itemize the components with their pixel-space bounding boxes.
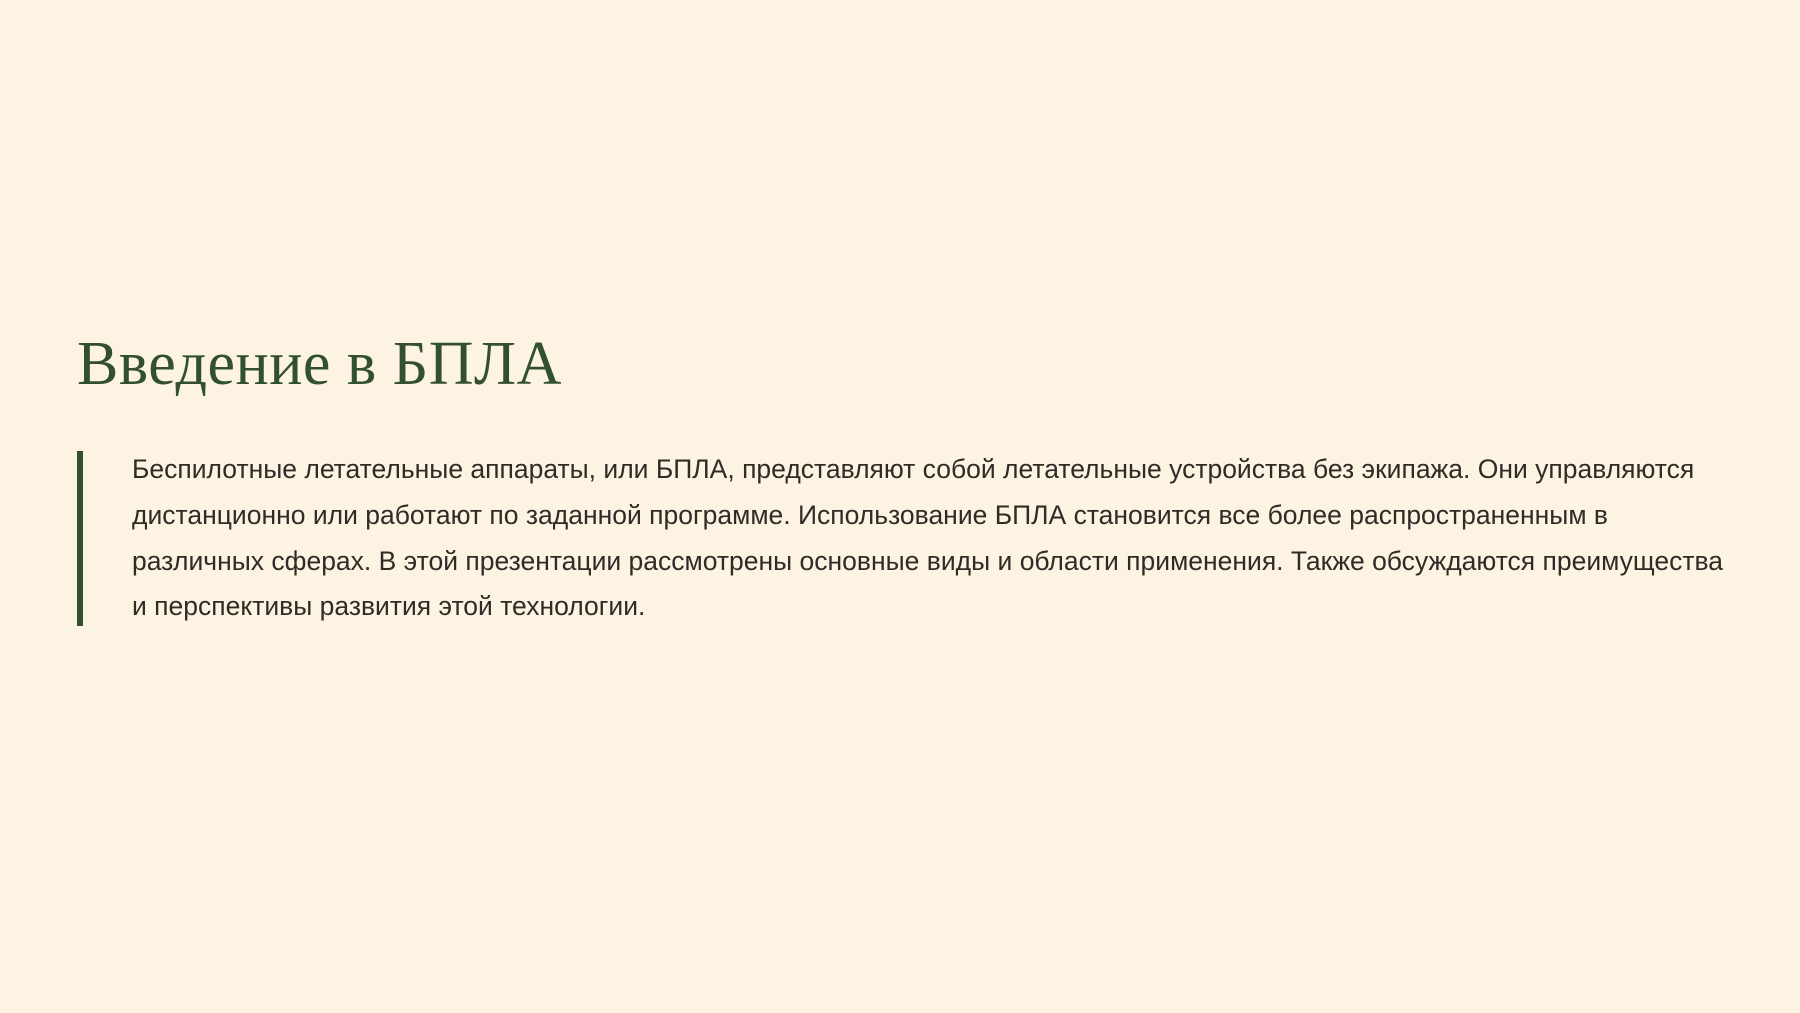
slide-body-paragraph: Беспилотные летательные аппараты, или БП… — [132, 447, 1737, 629]
slide-content-block: Введение в БПЛА Беспилотные летательные … — [77, 330, 1737, 630]
presentation-slide: Введение в БПЛА Беспилотные летательные … — [0, 0, 1800, 1013]
page-title: Введение в БПЛА — [77, 330, 1737, 399]
body-text-group: Беспилотные летательные аппараты, или БП… — [77, 447, 1737, 629]
accent-bar — [77, 451, 83, 625]
